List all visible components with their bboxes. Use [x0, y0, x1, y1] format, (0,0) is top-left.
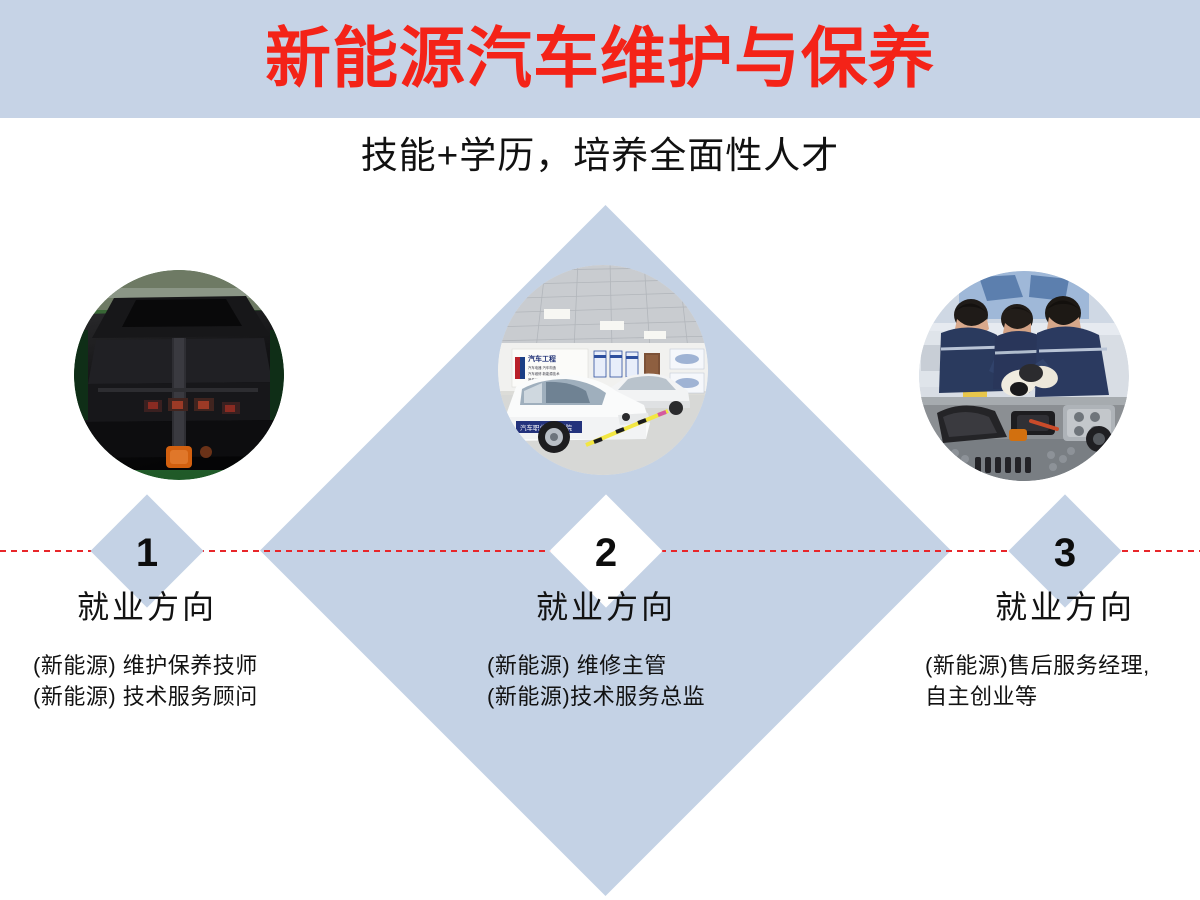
column-body-3-line-1: (新能源)售后服务经理, [925, 650, 1150, 681]
column-heading-1: 就业方向 [27, 586, 267, 628]
slide-canvas: 新能源汽车维护与保养 技能+学历，培养全面性人才 [0, 0, 1200, 900]
column-body-2-line-1: (新能源) 维修主管 [487, 650, 705, 681]
column-body-1: (新能源) 维护保养技师 (新能源) 技术服务顾问 [33, 650, 258, 712]
column-body-3-line-2: 自主创业等 [925, 681, 1150, 712]
svg-text:汽车工程: 汽车工程 [528, 354, 556, 363]
training-workshop-photo: 汽车工程 汽车电器 汽车构造 汽车维修 新能源技术 底盘维修工 维修电工 [498, 265, 708, 475]
column-body-2: (新能源) 维修主管 (新能源)技术服务总监 [487, 650, 705, 712]
page-title: 新能源汽车维护与保养 [0, 14, 1200, 102]
column-heading-3: 就业方向 [945, 586, 1185, 628]
column-body-1-line-1: (新能源) 维护保养技师 [33, 650, 258, 681]
column-body-2-line-2: (新能源)技术服务总监 [487, 681, 705, 712]
step-number-1: 1 [107, 513, 187, 593]
step-number-2: 2 [566, 513, 646, 593]
students-engine-teardown-photo [919, 271, 1129, 481]
step-number-3: 3 [1025, 513, 1105, 593]
column-heading-2: 就业方向 [486, 586, 726, 628]
column-body-1-line-2: (新能源) 技术服务顾问 [33, 681, 258, 712]
svg-text:汽车电器 汽车构造: 汽车电器 汽车构造 [528, 365, 557, 370]
column-body-3: (新能源)售后服务经理, 自主创业等 [925, 650, 1150, 712]
subtitle: 技能+学历，培养全面性人才 [0, 132, 1200, 180]
svg-text:汽车维修 新能源技术: 汽车维修 新能源技术 [528, 371, 560, 376]
battery-pack-photo [74, 270, 284, 480]
